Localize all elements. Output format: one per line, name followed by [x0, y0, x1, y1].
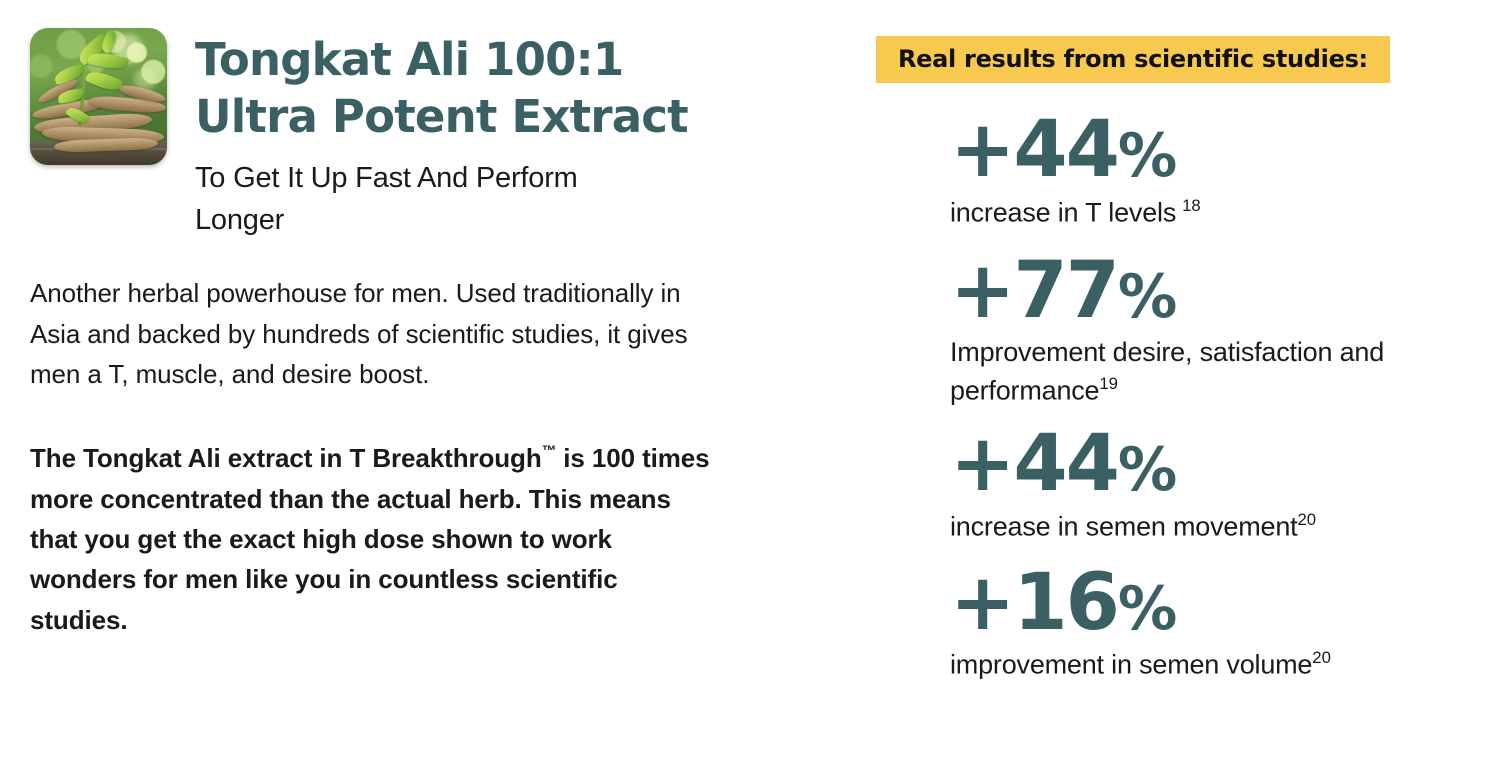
percent-symbol: % [1118, 262, 1176, 331]
title-line-1: Tongkat Ali 100:1 [195, 32, 730, 89]
stat-item: +16% improvement in semen volume20 [950, 562, 1436, 684]
percent-symbol: % [1118, 121, 1176, 190]
right-results-column: Real results from scientific studies: +4… [876, 36, 1436, 684]
stat-number: +44 [950, 105, 1118, 195]
statistics-list: +44% increase in T levels18 +77% Improve… [876, 109, 1436, 683]
citation-reference: 20 [1297, 510, 1316, 529]
percent-symbol: % [1118, 574, 1176, 643]
description-paragraph: Another herbal powerhouse for men. Used … [30, 273, 690, 394]
leaf-shape [85, 68, 124, 94]
stat-label-text: Improvement desire, satisfaction and per… [950, 337, 1384, 405]
citation-reference: 20 [1312, 648, 1331, 667]
citation-reference: 18 [1182, 196, 1201, 215]
leaf-shape [87, 50, 129, 72]
title-block: Tongkat Ali 100:1 Ultra Potent Extract T… [195, 28, 730, 241]
product-highlight-page: Tongkat Ali 100:1 Ultra Potent Extract T… [0, 0, 1500, 776]
percent-symbol: % [1118, 435, 1176, 504]
stat-value: +77% [950, 250, 1436, 333]
tongkat-ali-product-image [30, 28, 167, 165]
stat-value: +44% [950, 423, 1436, 506]
product-header-row: Tongkat Ali 100:1 Ultra Potent Extract T… [30, 28, 730, 241]
page-subtitle: To Get It Up Fast And Perform Longer [195, 157, 665, 241]
results-banner: Real results from scientific studies: [876, 36, 1390, 83]
concentration-text-part-1: The Tongkat Ali extract in T Breakthroug… [30, 443, 542, 473]
stat-number: +16 [950, 558, 1118, 648]
citation-reference: 19 [1099, 374, 1118, 393]
stat-label: Improvement desire, satisfaction and per… [950, 334, 1436, 409]
stat-item: +44% increase in semen movement20 [950, 423, 1436, 545]
stat-label: increase in T levels18 [950, 194, 1436, 232]
stat-label: improvement in semen volume20 [950, 646, 1436, 684]
title-line-2: Ultra Potent Extract [195, 89, 730, 146]
page-title: Tongkat Ali 100:1 Ultra Potent Extract [195, 32, 730, 145]
concentration-paragraph: The Tongkat Ali extract in T Breakthroug… [30, 438, 720, 639]
stat-number: +44 [950, 419, 1118, 509]
stat-number: +77 [950, 246, 1118, 336]
stat-label: increase in semen movement20 [950, 508, 1436, 546]
trademark-symbol: ™ [542, 444, 557, 460]
left-content-column: Tongkat Ali 100:1 Ultra Potent Extract T… [30, 28, 730, 640]
stat-value: +44% [950, 109, 1436, 192]
stat-item: +44% increase in T levels18 [950, 109, 1436, 231]
stat-label-text: increase in semen movement [950, 511, 1297, 541]
stat-value: +16% [950, 562, 1436, 645]
stat-label-text: increase in T levels [950, 197, 1176, 227]
stat-item: +77% Improvement desire, satisfaction an… [950, 250, 1436, 410]
stat-label-text: improvement in semen volume [950, 650, 1312, 680]
